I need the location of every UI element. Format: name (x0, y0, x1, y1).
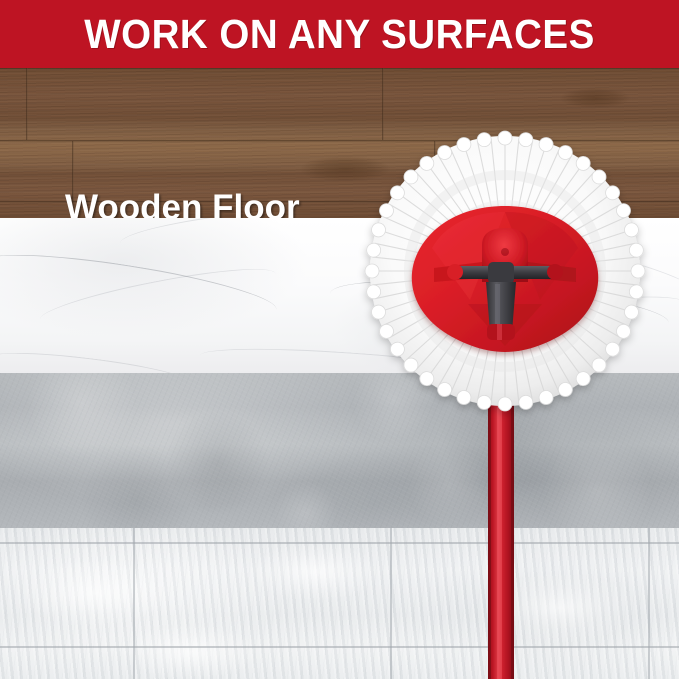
cement-speckle-texture (0, 373, 679, 528)
plank-seam (0, 140, 679, 142)
marble-vein (118, 218, 380, 261)
header-banner: WORK ON ANY SURFACES (0, 0, 679, 68)
surface-band-cement: Cement Floor (0, 373, 679, 528)
surface-band-wooden: Wooden Floor (0, 68, 679, 218)
tile-swirl (480, 572, 640, 644)
surface-band-tile: Tile Floor (0, 528, 679, 679)
tile-grout-line (0, 646, 679, 648)
surface-band-marble: Marble Floor (0, 218, 679, 373)
tile-grout-line (390, 528, 392, 679)
infographic-canvas: Wooden Floor Marble Floor Cement Floor T… (0, 0, 679, 679)
tile-grout-line (648, 528, 650, 679)
plank-seam (434, 141, 436, 201)
tile-grout-line (0, 542, 679, 544)
plank-seam (26, 68, 28, 140)
plank-seam (0, 68, 679, 70)
plank-seam (560, 202, 562, 218)
tile-grout-line (133, 528, 135, 679)
banner-title: WORK ON ANY SURFACES (84, 14, 594, 55)
tile-swirl (120, 624, 260, 679)
tile-swirl (20, 558, 170, 628)
wood-knot (300, 156, 390, 182)
plank-seam (382, 68, 384, 140)
tile-swirl (250, 542, 380, 602)
wood-knot (560, 88, 630, 108)
surface-label-wooden: Wooden Floor (65, 190, 300, 218)
marble-vein (0, 346, 190, 373)
